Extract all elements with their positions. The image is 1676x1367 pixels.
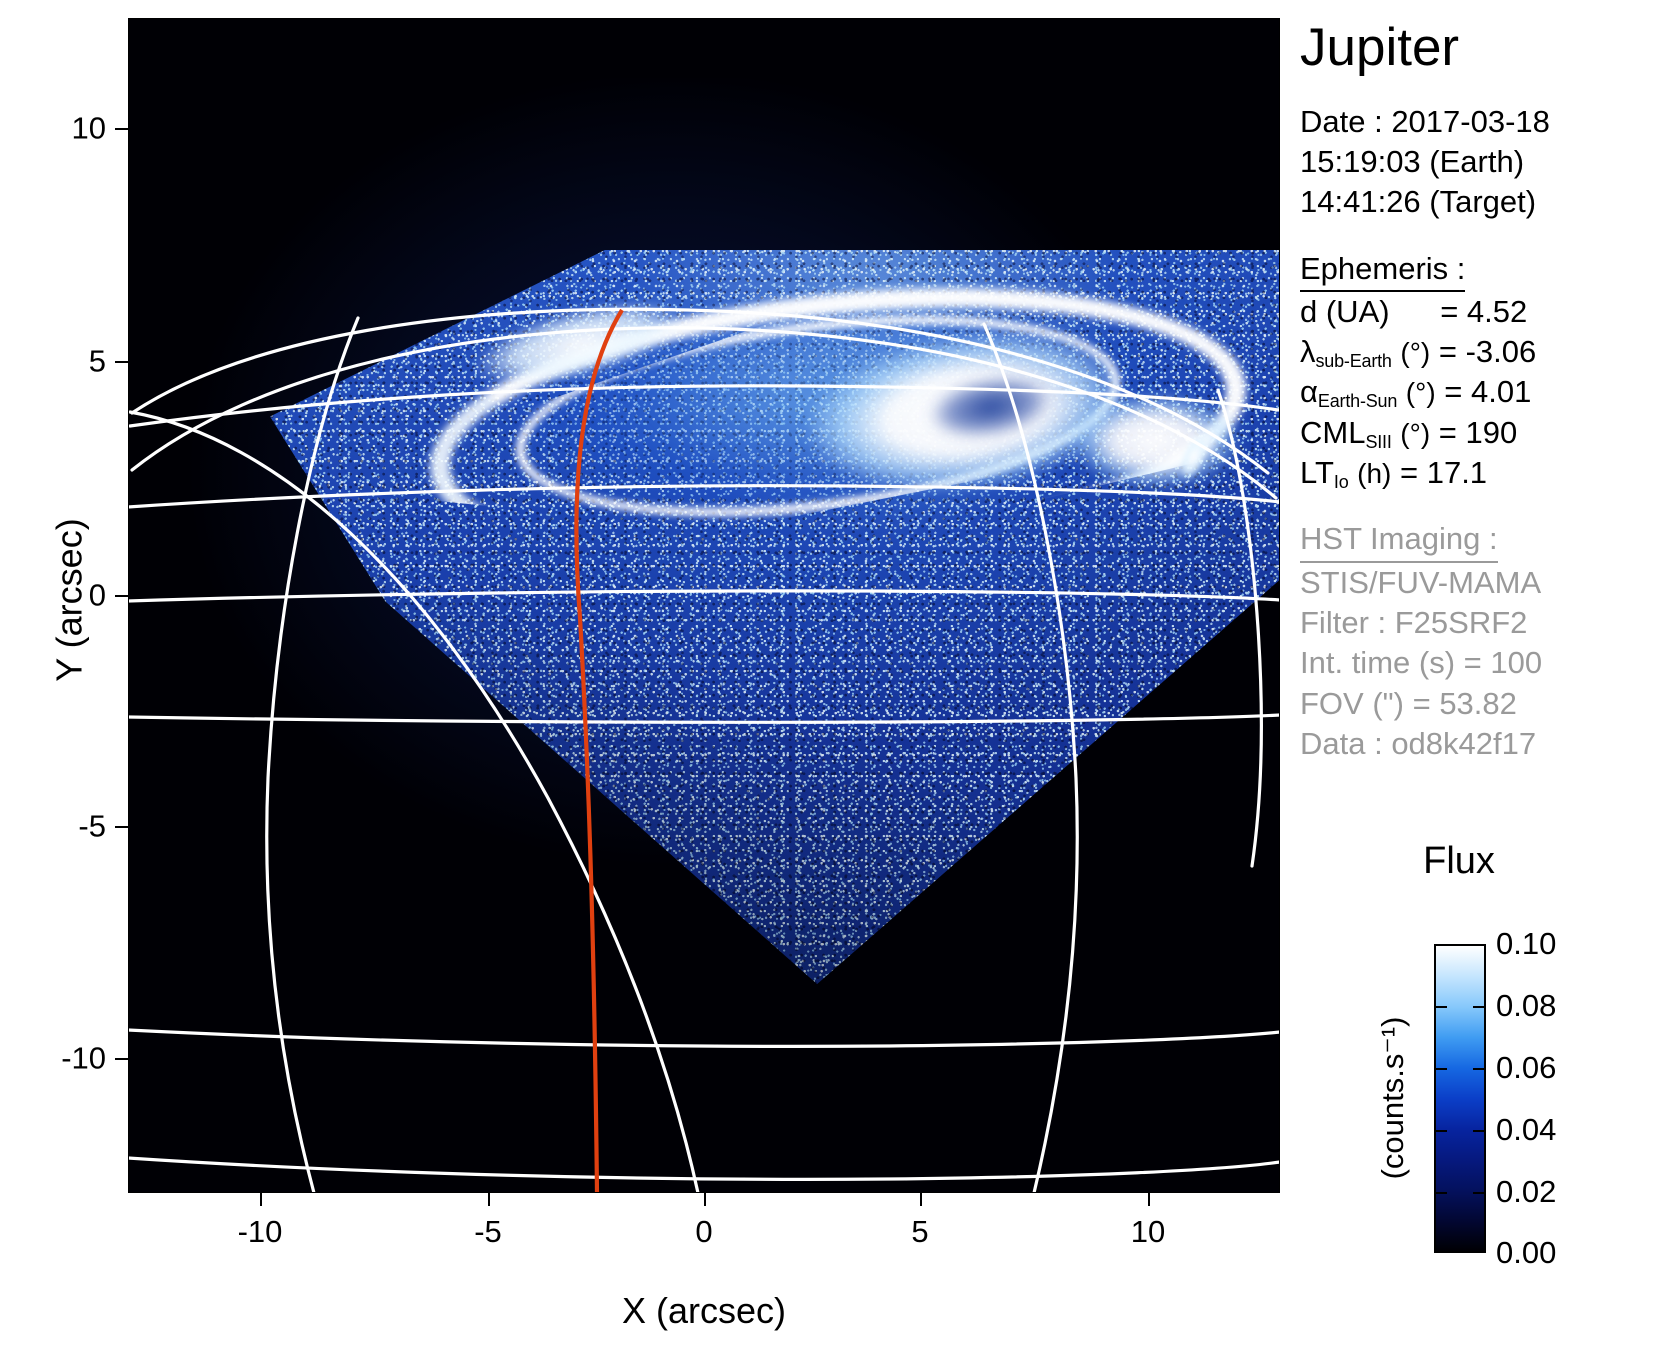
ephemeris-sub-alpha: Earth-Sun bbox=[1318, 391, 1397, 411]
ephemeris-sub-cml: SIII bbox=[1365, 432, 1391, 452]
x-tick-mark bbox=[488, 1193, 490, 1206]
ephemeris-unit-alpha: (°) bbox=[1406, 377, 1436, 408]
colorbar-tick-label: 0.08 bbox=[1496, 988, 1556, 1024]
colorbar-tick-mark bbox=[1434, 1068, 1447, 1070]
ephemeris-value-alpha: = 4.01 bbox=[1444, 374, 1531, 409]
ephemeris-row-io-local-time: LTIo (h) = 17.1 bbox=[1300, 453, 1676, 493]
ephemeris-unit-lt: (h) bbox=[1357, 458, 1391, 489]
colorbar-tick-mark bbox=[1434, 1130, 1447, 1132]
x-tick-label: 0 bbox=[695, 1216, 712, 1247]
ephemeris-value-cml: = 190 bbox=[1439, 415, 1517, 450]
hst-filter: Filter : F25SRF2 bbox=[1300, 603, 1676, 643]
colorbar-tick-mark bbox=[1473, 1130, 1486, 1132]
hst-dataset-id: Data : od8k42f17 bbox=[1300, 724, 1676, 764]
x-tick-label: 10 bbox=[1131, 1216, 1165, 1247]
colorbar-tick-label: 0.06 bbox=[1496, 1050, 1556, 1086]
observation-time-target: 14:41:26 (Target) bbox=[1300, 182, 1676, 222]
colorbar-tick-mark bbox=[1473, 1192, 1486, 1194]
plot-canvas bbox=[128, 18, 1280, 1193]
x-tick-mark bbox=[704, 1193, 706, 1206]
colorbar-tick-mark bbox=[1473, 944, 1486, 946]
y-tick-label: 10 bbox=[60, 113, 106, 144]
hst-heading-wrap: HST Imaging : bbox=[1300, 519, 1676, 562]
y-axis-title: Y (arcsec) bbox=[49, 518, 91, 681]
ephemeris-label-lambda: λ bbox=[1300, 334, 1316, 369]
ephemeris-label-cml: CML bbox=[1300, 415, 1365, 450]
colorbar-tick-label: 0.04 bbox=[1496, 1112, 1556, 1148]
x-tick-mark bbox=[260, 1193, 262, 1206]
info-panel: Jupiter Date : 2017-03-18 15:19:03 (Eart… bbox=[1300, 8, 1676, 764]
y-tick-mark bbox=[115, 595, 128, 597]
colorbar-tick-mark bbox=[1473, 1068, 1486, 1070]
colorbar-axis-label: (counts.s⁻¹) bbox=[1375, 1017, 1411, 1180]
y-tick-label: -5 bbox=[48, 811, 106, 842]
colorbar-tick-mark bbox=[1434, 1192, 1447, 1194]
y-tick-label: 5 bbox=[60, 346, 106, 377]
ephemeris-sub-lambda: sub-Earth bbox=[1316, 351, 1392, 371]
colorbar-title: Flux bbox=[1423, 840, 1495, 883]
x-tick-mark bbox=[1148, 1193, 1150, 1206]
ephemeris-row-phase-angle: αEarth-Sun (°) = 4.01 bbox=[1300, 372, 1676, 412]
ephemeris-value-distance: = 4.52 bbox=[1440, 294, 1527, 329]
y-tick-mark bbox=[115, 361, 128, 363]
hst-integration-time: Int. time (s) = 100 bbox=[1300, 643, 1676, 683]
ephemeris-label-lt: LT bbox=[1300, 455, 1334, 490]
ephemeris-heading: Ephemeris : bbox=[1300, 249, 1465, 292]
x-tick-label: 5 bbox=[911, 1216, 928, 1247]
observation-date: Date : 2017-03-18 bbox=[1300, 102, 1676, 142]
y-tick-mark bbox=[115, 128, 128, 130]
x-tick-label: -10 bbox=[238, 1216, 283, 1247]
cml-meridian-overlay bbox=[128, 18, 1280, 1193]
colorbar-tick-mark bbox=[1434, 1006, 1447, 1008]
y-tick-mark bbox=[115, 1058, 128, 1060]
ephemeris-unit-lambda: (°) bbox=[1400, 337, 1430, 368]
colorbar-tick-label: 0.00 bbox=[1496, 1235, 1556, 1271]
colorbar-tick-mark bbox=[1473, 1006, 1486, 1008]
colorbar-tick-label: 0.10 bbox=[1496, 926, 1556, 962]
ephemeris-value-lt: = 17.1 bbox=[1400, 455, 1487, 490]
hst-imaging-heading: HST Imaging : bbox=[1300, 519, 1498, 562]
x-axis-title: X (arcsec) bbox=[622, 1290, 786, 1332]
colorbar-tick-mark bbox=[1434, 944, 1447, 946]
ephemeris-label-distance: d (UA) bbox=[1300, 294, 1390, 329]
x-tick-label: -5 bbox=[474, 1216, 502, 1247]
hst-fov: FOV (") = 53.82 bbox=[1300, 684, 1676, 724]
y-tick-mark bbox=[115, 826, 128, 828]
cml-meridian-line bbox=[576, 310, 622, 1193]
ephemeris-row-cml: CMLSIII (°) = 190 bbox=[1300, 413, 1676, 453]
ephemeris-value-lambda: = -3.06 bbox=[1439, 334, 1536, 369]
colorbar-gradient bbox=[1434, 944, 1486, 1253]
target-title: Jupiter bbox=[1300, 20, 1676, 76]
ephemeris-heading-wrap: Ephemeris : bbox=[1300, 249, 1676, 292]
ephemeris-row-sub-earth-lat: λsub-Earth (°) = -3.06 bbox=[1300, 332, 1676, 372]
ephemeris-sub-lt: Io bbox=[1334, 472, 1349, 492]
colorbar-tick-label: 0.02 bbox=[1496, 1174, 1556, 1210]
hst-instrument: STIS/FUV-MAMA bbox=[1300, 563, 1676, 603]
ephemeris-label-alpha: α bbox=[1300, 374, 1318, 409]
x-tick-mark bbox=[920, 1193, 922, 1206]
observation-time-earth: 15:19:03 (Earth) bbox=[1300, 142, 1676, 182]
ephemeris-row-distance: d (UA) = 4.52 bbox=[1300, 292, 1676, 332]
y-tick-label: -10 bbox=[40, 1043, 106, 1074]
ephemeris-unit-cml: (°) bbox=[1400, 418, 1430, 449]
